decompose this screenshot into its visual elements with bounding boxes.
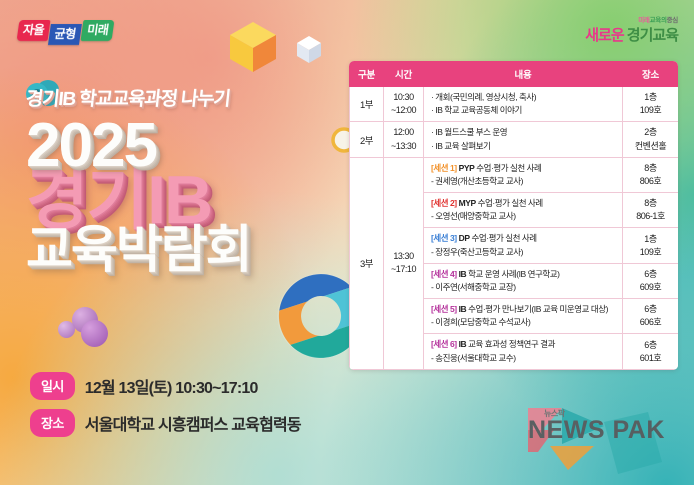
session-presenter: - 권세영(개산초등학교 교사) xyxy=(431,175,619,188)
place-room: 806호 xyxy=(640,176,662,186)
slogan-word-autonomy: 자율 xyxy=(17,20,51,41)
session-presenter: - 오영선(매양중학교 교사) xyxy=(431,210,619,223)
cell-place: 8층806-1호 xyxy=(623,193,679,228)
place-room: 109호 xyxy=(640,105,662,115)
cell-place: 6층609호 xyxy=(623,263,679,298)
goe-main-gyeonggi-edu: 경기교육 xyxy=(627,27,678,44)
place-room: 109호 xyxy=(640,247,662,257)
info-value-date: 12월 13일(토) 10:30~17:10 xyxy=(85,374,258,398)
goe-brand-logo: 미래교육의중심 새로운 경기교육 xyxy=(585,18,678,43)
table-row: 3부13:30~17:10[세션 1] PYP 수업·평가 실천 사례- 권세영… xyxy=(350,157,679,192)
cell-content: · IB 월드스쿨 부스 운영· IB 교육 살펴보기 xyxy=(424,122,623,157)
session-presenter: - 송진웅(서울대학교 교수) xyxy=(431,352,619,365)
cell-place: 6층601호 xyxy=(623,334,679,369)
place-room: 806-1호 xyxy=(636,211,665,221)
cell-content: [세션 3] DP 수업·평가 실천 사례- 장정우(죽산고등학교 교사) xyxy=(424,228,623,263)
cell-content: [세션 6] IB 교육 효과성 정책연구 결과- 송진웅(서울대학교 교수) xyxy=(424,334,623,369)
cell-content: [세션 5] IB 수업·평가 만나보기(IB 교육 미운영교 대상)- 이경희… xyxy=(424,299,623,334)
place-room: 컨벤션홀 xyxy=(635,141,666,151)
session-presenter: - 장정우(죽산고등학교 교사) xyxy=(431,246,619,259)
time-start: 13:30 xyxy=(393,251,413,261)
cell-part-label: 3부 xyxy=(350,157,384,369)
place-floor: 8층 xyxy=(644,198,656,208)
column-header-place: 장소 xyxy=(623,62,679,87)
event-year-text: 2025 xyxy=(26,111,156,180)
time-end: ~12:00 xyxy=(391,105,416,115)
cell-place: 1층109호 xyxy=(623,228,679,263)
place-floor: 1층 xyxy=(644,234,656,244)
schedule-table: 구분 시간 내용 장소 1부10:30~12:00· 개회(국민의례, 영상시청… xyxy=(349,61,678,370)
cell-place: 2층컨벤션홀 xyxy=(623,122,679,157)
time-start: 10:30 xyxy=(393,92,413,102)
place-floor: 1층 xyxy=(644,92,656,102)
event-year: 2025 xyxy=(26,117,346,174)
goe-sub-future: 미래 xyxy=(638,17,649,24)
session-tag: [세션 5] xyxy=(431,304,457,314)
session-title-line: [세션 4] IB 학교 운영 사례(IB 연구학교) xyxy=(431,268,619,281)
session-tag: [세션 4] xyxy=(431,269,457,279)
place-room: 601호 xyxy=(640,353,662,363)
goe-sub-education: 교육의 xyxy=(650,17,667,24)
place-floor: 8층 xyxy=(644,163,656,173)
session-title-rest: 수업·평가 만나보기(IB 교육 미운영교 대상) xyxy=(466,304,608,314)
goe-sub-line: 미래교육의중심 xyxy=(585,18,678,25)
slogan-word-future: 미래 xyxy=(81,20,115,41)
session-acronym: PYP xyxy=(459,163,475,173)
slogan-word-balance: 균형 xyxy=(48,24,82,45)
session-tag: [세션 3] xyxy=(431,233,457,243)
goe-sub-center: 중심 xyxy=(667,17,678,24)
session-title-rest: 수업·평가 실천 사례 xyxy=(470,233,537,243)
session-presenter: - 이주연(서해중학교 교장) xyxy=(431,281,619,294)
info-row-venue: 장소 서울대학교 시흥캠퍼스 교육협력동 xyxy=(30,409,301,437)
place-floor: 6층 xyxy=(644,340,656,350)
session-acronym: DP xyxy=(459,233,470,243)
column-header-time: 시간 xyxy=(384,62,424,87)
event-name: 교육박람회 xyxy=(26,225,346,275)
info-row-date: 일시 12월 13일(토) 10:30~17:10 xyxy=(30,372,301,400)
slogan-logo: 자율 균형 미래 xyxy=(17,20,115,41)
cell-place: 1층109호 xyxy=(623,87,679,122)
content-line: · IB 학교 교육공동체 이야기 xyxy=(431,104,619,117)
event-info-block: 일시 12월 13일(토) 10:30~17:10 장소 서울대학교 시흥캠퍼스… xyxy=(30,372,301,446)
session-title-rest: 수업·평가 실천 사례 xyxy=(474,163,541,173)
session-title-line: [세션 5] IB 수업·평가 만나보기(IB 교육 미운영교 대상) xyxy=(431,303,619,316)
cell-content: · 개회(국민의례, 영상시청, 축사)· IB 학교 교육공동체 이야기 xyxy=(424,87,623,122)
session-title-line: [세션 1] PYP 수업·평가 실천 사례 xyxy=(431,162,619,175)
schedule-table-head: 구분 시간 내용 장소 xyxy=(350,62,679,87)
column-header-gubun: 구분 xyxy=(350,62,384,87)
cell-part-label: 1부 xyxy=(350,87,384,122)
cell-time: 10:30~12:00 xyxy=(384,87,424,122)
session-title-line: [세션 2] MYP 수업·평가 실천 사례 xyxy=(431,197,619,210)
content-line: · 개회(국민의례, 영상시청, 축사) xyxy=(431,91,619,104)
info-value-venue: 서울대학교 시흥캠퍼스 교육협력동 xyxy=(85,411,301,435)
session-tag: [세션 6] xyxy=(431,339,457,349)
cell-part-label: 2부 xyxy=(350,122,384,157)
cell-content: [세션 4] IB 학교 운영 사례(IB 연구학교)- 이주연(서해중학교 교… xyxy=(424,263,623,298)
cell-time: 13:30~17:10 xyxy=(384,157,424,369)
session-title-rest: 교육 효과성 정책연구 결과 xyxy=(466,339,555,349)
time-start: 12:00 xyxy=(393,127,413,137)
cell-place: 8층806호 xyxy=(623,157,679,192)
place-room: 606호 xyxy=(640,317,662,327)
place-room: 609호 xyxy=(640,282,662,292)
event-subtitle: 경기IB 학교교육과정 나누기 xyxy=(25,84,348,111)
session-acronym: MYP xyxy=(459,198,476,208)
place-floor: 6층 xyxy=(644,269,656,279)
info-label-date: 일시 xyxy=(30,372,75,400)
headline-block: 경기IB 학교교육과정 나누기 2025 경기IB 교육박람회 xyxy=(26,84,346,275)
session-title-rest: 학교 운영 사례(IB 연구학교) xyxy=(466,269,559,279)
session-title-line: [세션 6] IB 교육 효과성 정책연구 결과 xyxy=(431,338,619,351)
table-row: 2부12:00~13:30· IB 월드스쿨 부스 운영· IB 교육 살펴보기… xyxy=(350,122,679,157)
session-tag: [세션 1] xyxy=(431,163,457,173)
goe-main-line: 새로운 경기교육 xyxy=(585,28,678,43)
table-row: 1부10:30~12:00· 개회(국민의례, 영상시청, 축사)· IB 학교… xyxy=(350,87,679,122)
schedule-table-container: 구분 시간 내용 장소 1부10:30~12:00· 개회(국민의례, 영상시청… xyxy=(349,61,678,370)
schedule-table-body: 1부10:30~12:00· 개회(국민의례, 영상시청, 축사)· IB 학교… xyxy=(350,87,679,370)
poster-canvas: 자율 균형 미래 미래교육의중심 새로운 경기교육 경기IB 학교교육과정 나누… xyxy=(0,0,694,485)
column-header-content: 내용 xyxy=(424,62,623,87)
cell-content: [세션 2] MYP 수업·평가 실천 사례- 오영선(매양중학교 교사) xyxy=(424,193,623,228)
cell-place: 6층606호 xyxy=(623,299,679,334)
table-header-row: 구분 시간 내용 장소 xyxy=(350,62,679,87)
info-label-venue: 장소 xyxy=(30,409,75,437)
content-line: · IB 교육 살펴보기 xyxy=(431,140,619,153)
cell-content: [세션 1] PYP 수업·평가 실천 사례- 권세영(개산초등학교 교사) xyxy=(424,157,623,192)
goe-main-new: 새로운 xyxy=(585,27,623,44)
place-floor: 2층 xyxy=(644,127,656,137)
session-presenter: - 이경희(모담중학교 수석교사) xyxy=(431,316,619,329)
session-tag: [세션 2] xyxy=(431,198,457,208)
session-title-rest: 수업·평가 실천 사례 xyxy=(476,198,543,208)
session-title-line: [세션 3] DP 수업·평가 실천 사례 xyxy=(431,232,619,245)
content-line: · IB 월드스쿨 부스 운영 xyxy=(431,126,619,139)
time-end: ~13:30 xyxy=(391,141,416,151)
place-floor: 6층 xyxy=(644,304,656,314)
cell-time: 12:00~13:30 xyxy=(384,122,424,157)
time-end: ~17:10 xyxy=(391,264,416,274)
